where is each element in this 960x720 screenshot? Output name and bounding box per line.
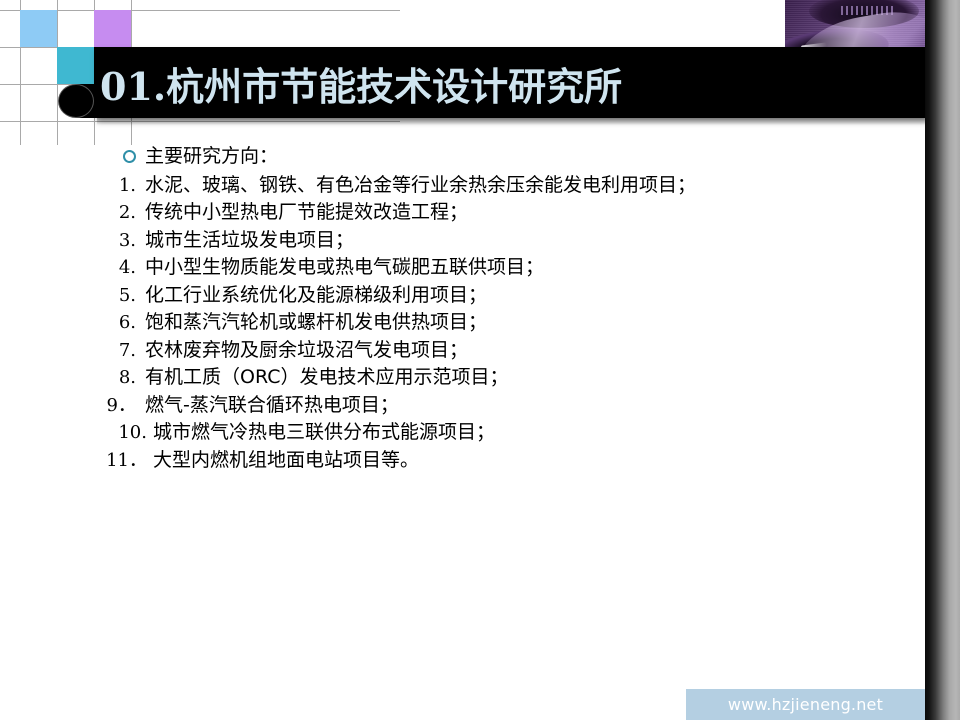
slide-canvas: 01.杭州市节能技术设计研究所 主要研究方向： 1. 水泥、玻璃、钢铁、有色冶金… xyxy=(0,0,925,720)
presentation-slide: 01.杭州市节能技术设计研究所 主要研究方向： 1. 水泥、玻璃、钢铁、有色冶金… xyxy=(0,0,960,720)
list-item-text: 有机工质（ORC）发电技术应用示范项目； xyxy=(145,364,895,392)
bullet-marker xyxy=(105,150,145,163)
list-item-marker: 9． xyxy=(105,392,145,420)
lead-text: 主要研究方向： xyxy=(145,143,895,171)
list-item-text: 城市燃气冷热电三联供分布式能源项目； xyxy=(153,419,895,447)
slide-body: 主要研究方向： 1. 水泥、玻璃、钢铁、有色冶金等行业余热余压余能发电利用项目；… xyxy=(105,143,895,474)
list-item-text: 传统中小型热电厂节能提效改造工程； xyxy=(145,199,895,227)
list-item-text: 大型内燃机组地面电站项目等。 xyxy=(153,447,895,475)
list-item: 2. 传统中小型热电厂节能提效改造工程； xyxy=(105,199,895,227)
list-item: 4. 中小型生物质能发电或热电气碳肥五联供项目； xyxy=(105,254,895,282)
list-item-marker: 1. xyxy=(105,172,145,200)
list-item-text: 农林废弃物及厨余垃圾沼气发电项目； xyxy=(145,337,895,365)
list-item-marker: 5. xyxy=(105,282,145,310)
list-item: 11． 大型内燃机组地面电站项目等。 xyxy=(105,447,895,475)
list-item: 8. 有机工质（ORC）发电技术应用示范项目； xyxy=(105,364,895,392)
list-item: 1. 水泥、玻璃、钢铁、有色冶金等行业余热余压余能发电利用项目； xyxy=(105,172,895,200)
footer-url-bar: www.hzjieneng.net xyxy=(686,689,925,720)
circle-bullet-icon xyxy=(123,150,136,163)
decorative-square-blue xyxy=(20,10,57,47)
list-item-text: 化工行业系统优化及能源梯级利用项目； xyxy=(145,282,895,310)
list-item: 10. 城市燃气冷热电三联供分布式能源项目； xyxy=(105,419,895,447)
list-item-text: 饱和蒸汽汽轮机或螺杆机发电供热项目； xyxy=(145,309,895,337)
list-item-marker: 3. xyxy=(105,227,145,255)
list-item-marker: 8. xyxy=(105,364,145,392)
list-item: 5. 化工行业系统优化及能源梯级利用项目； xyxy=(105,282,895,310)
list-item-marker: 6. xyxy=(105,309,145,337)
list-item-marker: 4. xyxy=(105,254,145,282)
list-lead-line: 主要研究方向： xyxy=(105,143,895,171)
decorative-square-purple xyxy=(94,10,131,47)
list-item-text: 中小型生物质能发电或热电气碳肥五联供项目； xyxy=(145,254,895,282)
footer-url-text: www.hzjieneng.net xyxy=(728,695,883,714)
list-item-text: 燃气-蒸汽联合循环热电项目； xyxy=(145,392,895,420)
list-item-text: 水泥、玻璃、钢铁、有色冶金等行业余热余压余能发电利用项目； xyxy=(145,172,895,200)
decorative-circle-black xyxy=(58,84,94,118)
title-bar-shadow xyxy=(97,118,925,125)
list-item: 9． 燃气-蒸汽联合循环热电项目； xyxy=(105,392,895,420)
decorative-square-teal xyxy=(57,47,94,84)
list-item-marker: 11． xyxy=(105,447,153,475)
list-item: 3. 城市生活垃圾发电项目； xyxy=(105,227,895,255)
list-item-marker: 10. xyxy=(105,419,153,447)
list-item-text: 城市生活垃圾发电项目； xyxy=(145,227,895,255)
list-item-marker: 2. xyxy=(105,199,145,227)
list-item: 6. 饱和蒸汽汽轮机或螺杆机发电供热项目； xyxy=(105,309,895,337)
grid-line-horizontal xyxy=(0,10,400,11)
list-item-marker: 7. xyxy=(105,337,145,365)
list-item: 7. 农林废弃物及厨余垃圾沼气发电项目； xyxy=(105,337,895,365)
right-edge-scrollbar[interactable] xyxy=(925,0,960,720)
slide-title: 01.杭州市节能技术设计研究所 xyxy=(100,50,622,116)
